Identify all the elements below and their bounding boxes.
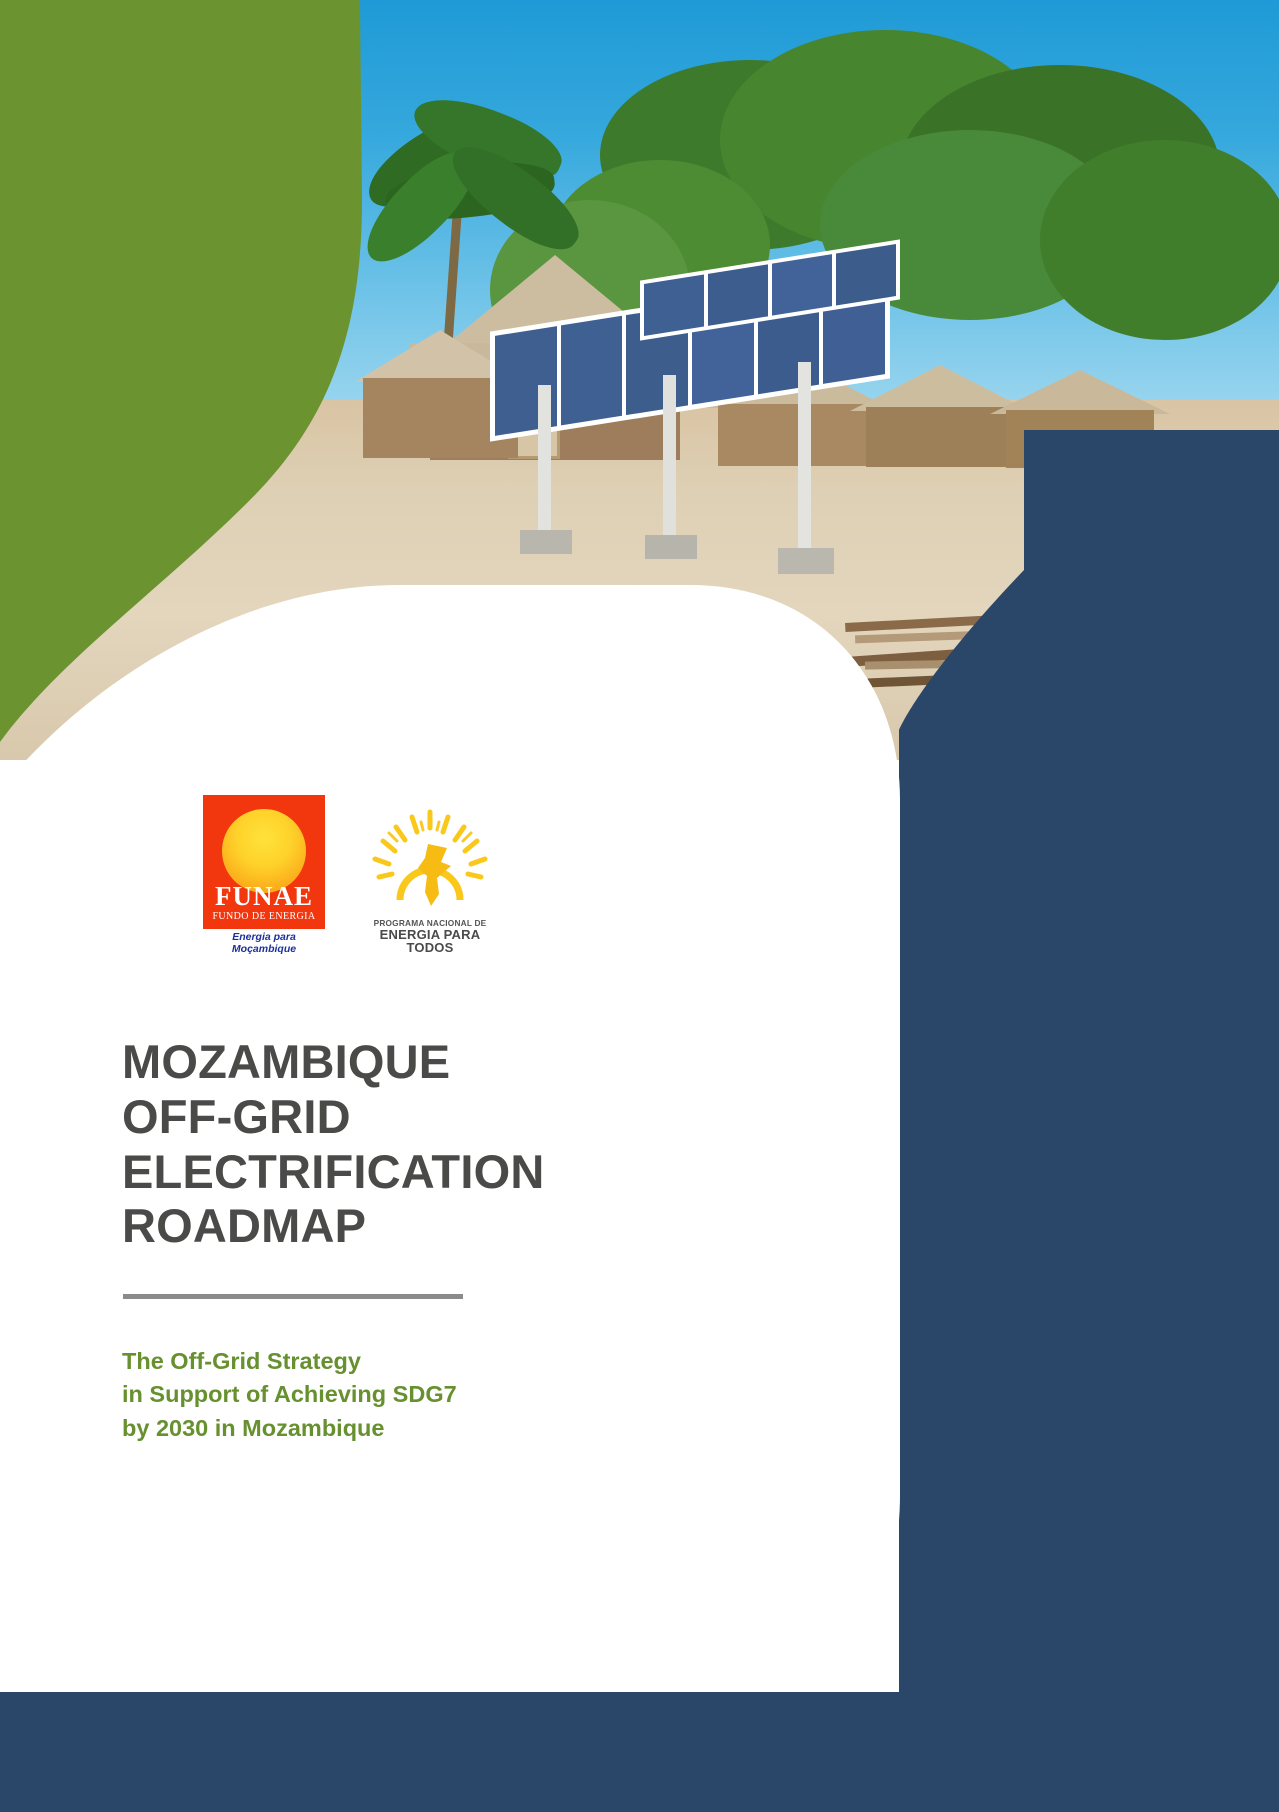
document-subtitle: The Off-Grid Strategy in Support of Achi… xyxy=(122,1345,682,1445)
document-cover: FUNAE FUNDO DE ENERGIA Energia para Moça… xyxy=(0,0,1279,1812)
title-line-2: OFF-GRID xyxy=(122,1090,762,1145)
funae-logo-box: FUNAE FUNDO DE ENERGIA xyxy=(203,795,325,929)
title-line-4: ROADMAP xyxy=(122,1199,762,1254)
subtitle-line-3: by 2030 in Mozambique xyxy=(122,1412,682,1445)
solar-post-base-right xyxy=(778,548,834,574)
solar-support-post-mid xyxy=(663,375,676,540)
solar-support-post-right xyxy=(798,362,811,550)
programa-nacional-logo: PROGRAMA NACIONAL DE ENERGIA PARA TODOS xyxy=(355,808,505,955)
title-line-3: ELECTRIFICATION xyxy=(122,1145,762,1200)
subtitle-line-1: The Off-Grid Strategy xyxy=(122,1345,682,1378)
subtitle-line-2: in Support of Achieving SDG7 xyxy=(122,1378,682,1411)
logo-row: FUNAE FUNDO DE ENERGIA Energia para Moça… xyxy=(203,795,505,955)
funae-logo-name: FUNAE xyxy=(203,883,325,910)
solar-post-base-mid xyxy=(645,535,697,559)
solar-support-post-left xyxy=(538,385,551,535)
funae-logo-subtitle: FUNDO DE ENERGIA xyxy=(203,911,325,922)
navy-bottom-panel xyxy=(0,1692,1279,1812)
document-title: MOZAMBIQUE OFF-GRID ELECTRIFICATION ROAD… xyxy=(122,1035,762,1254)
funae-logo: FUNAE FUNDO DE ENERGIA Energia para Moça… xyxy=(203,795,325,955)
programa-logo-line2: ENERGIA PARA TODOS xyxy=(355,928,505,955)
lightbulb-sun-icon xyxy=(355,808,505,916)
title-line-1: MOZAMBIQUE xyxy=(122,1035,762,1090)
title-divider-rule xyxy=(123,1294,463,1299)
funae-logo-tagline: Energia para Moçambique xyxy=(203,931,325,955)
solar-post-base-left xyxy=(520,530,572,554)
